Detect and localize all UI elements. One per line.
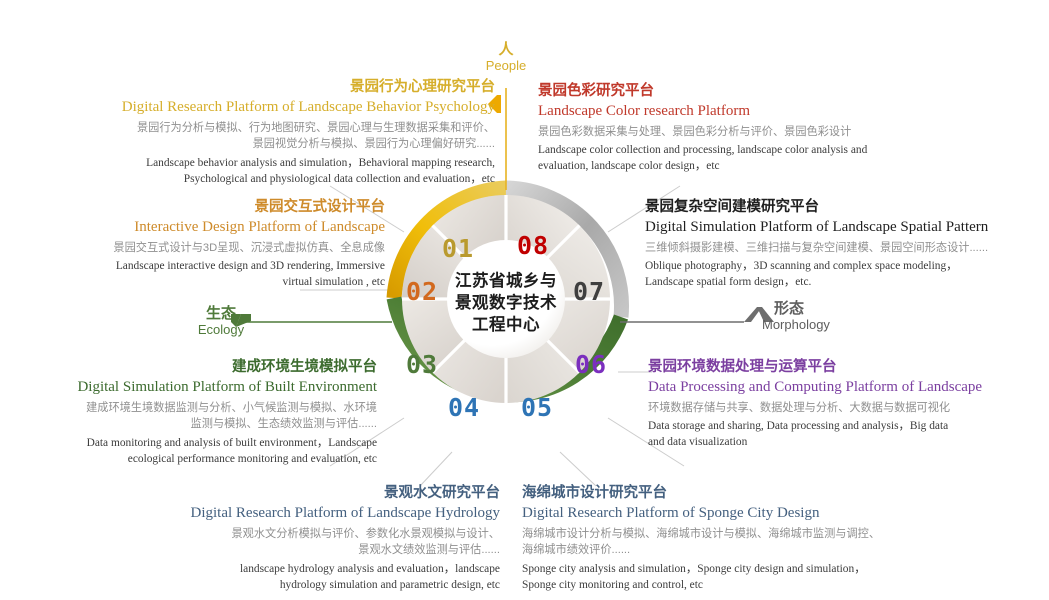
platform-color-research-en-title: Landscape Color research Platform [538,102,938,122]
platform-color-research-en-body: Landscape color collection and processin… [538,142,938,174]
sector-number-01: 01 [442,234,474,263]
platform-color-research: 景园色彩研究平台 Landscape Color research Platfo… [538,82,938,175]
zh-body-line: 建成环境生境数据监测与分析、小气候监测与模拟、水环境 [22,400,377,416]
platform-sponge-city: 海绵城市设计研究平台 Digital Research Platform of … [522,484,932,593]
platform-behavior-psychology-en-title: Digital Research Platform of Landscape B… [30,98,495,118]
axis-people-zh: 人 [466,41,546,58]
platform-interactive-design-en-body: Landscape interactive design and 3D rend… [45,258,385,290]
en-body-line: hydrology simulation and parametric desi… [128,577,500,593]
sector-number-08: 08 [517,231,549,260]
axis-people-en: People [466,58,546,74]
zh-body-line: 景园行为分析与模拟、行为地图研究、景园心理与生理数据采集和评价、 [30,120,495,136]
platform-sponge-city-en-title: Digital Research Platform of Sponge City… [522,504,932,524]
zh-body-line: 三维倾斜摄影建模、三维扫描与复杂空间建模、景园空间形态设计...... [645,240,1045,256]
en-body-line: and data visualization [648,434,1048,450]
zh-body-line: 景观水文绩效监测与评估...... [128,542,500,558]
en-body-line: landscape hydrology analysis and evaluat… [128,561,500,577]
zh-body-line: 景观水文分析模拟与评价、参数化水景观模拟与设计、 [128,526,500,542]
platform-behavior-psychology: 景园行为心理研究平台 Digital Research Platform of … [30,78,495,187]
platform-built-environment-zh-title: 建成环境生境模拟平台 [22,358,377,378]
platform-data-processing: 景园环境数据处理与运算平台 Data Processing and Comput… [648,358,1048,451]
center-hub-label: 江苏省城乡与 景观数字技术 工程中心 [446,271,566,336]
axis-ecology-en: Ecology [178,322,264,338]
platform-interactive-design-zh-body: 景园交互式设计与3D呈现、沉浸式虚拟仿真、全息成像 [45,240,385,256]
infographic-canvas: 人 People 生态 Ecology 形态 Morphology 江苏省城乡与… [0,0,1049,600]
zh-body-line: 海绵城市设计分析与模拟、海绵城市设计与模拟、海绵城市监测与调控、 [522,526,932,542]
platform-behavior-psychology-en-body: Landscape behavior analysis and simulati… [30,155,495,187]
platform-hydrology: 景观水文研究平台 Digital Research Platform of La… [128,484,500,593]
zh-body-line: 景园色彩数据采集与处理、景园色彩分析与评价、景园色彩设计 [538,124,938,140]
en-body-line: ecological performance monitoring and ev… [22,451,377,467]
en-body-line: Landscape behavior analysis and simulati… [30,155,495,171]
platform-built-environment-en-title: Digital Simulation Platform of Built Env… [22,378,377,398]
en-body-line: Sponge city monitoring and control, etc [522,577,932,593]
hub-line-2: 景观数字技术 [446,293,566,315]
platform-interactive-design-zh-title: 景园交互式设计平台 [45,198,385,218]
en-body-line: virtual simulation , etc [45,274,385,290]
platform-hydrology-en-body: landscape hydrology analysis and evaluat… [128,561,500,593]
zh-body-line: 监测与模拟、生态绩效监测与评估...... [22,416,377,432]
sector-number-07: 07 [573,277,605,306]
en-body-line: evaluation, landscape color design，etc [538,158,938,174]
platform-sponge-city-en-body: Sponge city analysis and simulation，Spon… [522,561,932,593]
sector-number-06: 06 [575,350,607,379]
zh-body-line: 景园视觉分析与模拟、景园行为心理偏好研究...... [30,136,495,152]
axis-morphology-graphic [620,307,774,322]
platform-spatial-pattern: 景园复杂空间建模研究平台 Digital Simulation Platform… [645,198,1045,291]
axis-label-morphology: 形态 Morphology [762,300,872,333]
en-body-line: Landscape spatial form design，etc. [645,274,1045,290]
platform-hydrology-en-title: Digital Research Platform of Landscape H… [128,504,500,524]
en-body-line: Oblique photography，3D scanning and comp… [645,258,1045,274]
platform-spatial-pattern-zh-body: 三维倾斜摄影建模、三维扫描与复杂空间建模、景园空间形态设计...... [645,240,1045,256]
platform-sponge-city-zh-body: 海绵城市设计分析与模拟、海绵城市设计与模拟、海绵城市监测与调控、 海绵城市绩效评… [522,526,932,558]
platform-spatial-pattern-en-body: Oblique photography，3D scanning and comp… [645,258,1045,290]
en-body-line: Landscape color collection and processin… [538,142,938,158]
sector-number-05: 05 [521,393,553,422]
hub-line-1: 江苏省城乡与 [446,271,566,293]
zh-body-line: 海绵城市绩效评价...... [522,542,932,558]
platform-color-research-zh-body: 景园色彩数据采集与处理、景园色彩分析与评价、景园色彩设计 [538,124,938,140]
platform-data-processing-zh-body: 环境数据存储与共享、数据处理与分析、大数据与数据可视化 [648,400,1048,416]
platform-data-processing-zh-title: 景园环境数据处理与运算平台 [648,358,1048,378]
en-body-line: Sponge city analysis and simulation，Spon… [522,561,932,577]
zh-body-line: 环境数据存储与共享、数据处理与分析、大数据与数据可视化 [648,400,1048,416]
platform-behavior-psychology-zh-body: 景园行为分析与模拟、行为地图研究、景园心理与生理数据采集和评价、 景园视觉分析与… [30,120,495,152]
zh-body-line: 景园交互式设计与3D呈现、沉浸式虚拟仿真、全息成像 [45,240,385,256]
platform-interactive-design: 景园交互式设计平台 Interactive Design Platform of… [45,198,385,291]
en-body-line: Data storage and sharing, Data processin… [648,418,1048,434]
platform-behavior-psychology-zh-title: 景园行为心理研究平台 [30,78,495,98]
platform-built-environment-zh-body: 建成环境生境数据监测与分析、小气候监测与模拟、水环境 监测与模拟、生态绩效监测与… [22,400,377,432]
axis-morphology-en: Morphology [762,317,872,333]
platform-data-processing-en-title: Data Processing and Computing Platform o… [648,378,1048,398]
platform-hydrology-zh-title: 景观水文研究平台 [128,484,500,504]
platform-hydrology-zh-body: 景观水文分析模拟与评价、参数化水景观模拟与设计、 景观水文绩效监测与评估....… [128,526,500,558]
sector-number-02: 02 [406,277,438,306]
hub-line-3: 工程中心 [446,315,566,337]
platform-color-research-zh-title: 景园色彩研究平台 [538,82,938,102]
axis-ecology-zh: 生态 [178,305,264,322]
platform-data-processing-en-body: Data storage and sharing, Data processin… [648,418,1048,450]
platform-spatial-pattern-en-title: Digital Simulation Platform of Landscape… [645,218,1045,238]
platform-built-environment-en-body: Data monitoring and analysis of built en… [22,435,377,467]
platform-built-environment: 建成环境生境模拟平台 Digital Simulation Platform o… [22,358,377,467]
axis-label-people: 人 People [466,41,546,74]
sector-number-03: 03 [406,350,438,379]
platform-sponge-city-zh-title: 海绵城市设计研究平台 [522,484,932,504]
axis-morphology-zh: 形态 [762,300,872,317]
en-body-line: Data monitoring and analysis of built en… [22,435,377,451]
en-body-line: Landscape interactive design and 3D rend… [45,258,385,274]
platform-spatial-pattern-zh-title: 景园复杂空间建模研究平台 [645,198,1045,218]
sector-number-04: 04 [448,393,480,422]
axis-label-ecology: 生态 Ecology [178,305,264,338]
en-body-line: Psychological and physiological data col… [30,171,495,187]
platform-interactive-design-en-title: Interactive Design Platform of Landscape [45,218,385,238]
